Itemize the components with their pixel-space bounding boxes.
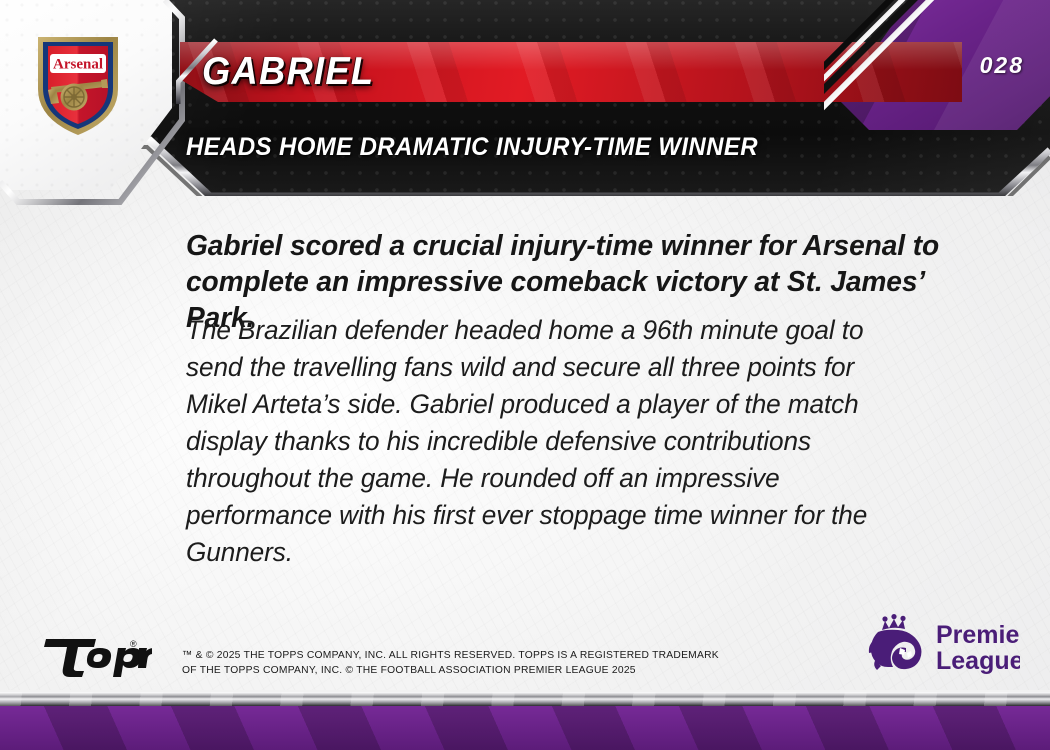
topps-logo: ® (34, 633, 152, 677)
registered-mark: ® (130, 639, 137, 649)
arsenal-crest: Arsenal (32, 31, 124, 139)
copyright-line-2: OF THE TOPPS COMPANY, INC. © THE FOOTBAL… (182, 663, 770, 678)
bottom-purple-band (0, 692, 1050, 750)
card-number: 028 (980, 52, 1024, 79)
premier-league-word-2: League (936, 647, 1020, 675)
premier-league-word-1: Premier (936, 621, 1020, 649)
copyright-line-1: ™ & © 2025 THE TOPPS COMPANY, INC. ALL R… (182, 648, 770, 663)
trading-card: 028 (0, 0, 1050, 750)
crest-club-name: Arsenal (53, 57, 103, 73)
card-subtitle: HEADS HOME DRAMATIC INJURY-TIME WINNER (186, 133, 758, 162)
band-chrome-edge (0, 692, 1050, 706)
copyright-text: ™ & © 2025 THE TOPPS COMPANY, INC. ALL R… (182, 648, 770, 678)
player-name-banner: GABRIEL (176, 38, 966, 106)
body-text: The Brazilian defender headed home a 96t… (186, 312, 904, 571)
player-name: GABRIEL (202, 50, 374, 94)
premier-league-logo: Premier League (852, 612, 1020, 680)
